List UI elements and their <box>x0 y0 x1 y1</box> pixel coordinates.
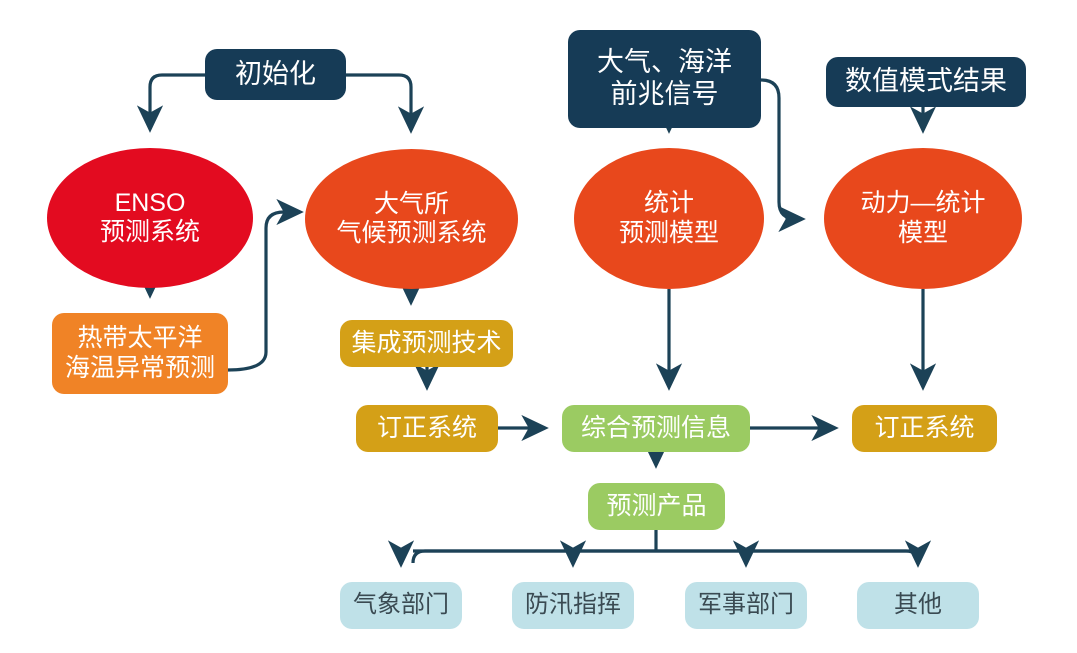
node-dynamic-statistical-model[interactable]: 动力—统计 模型 <box>824 148 1022 289</box>
node-numerical-model-result[interactable]: 数值模式结果 <box>826 57 1026 107</box>
edge-init-to-iap <box>346 75 411 130</box>
node-initialization[interactable]: 初始化 <box>205 49 346 100</box>
node-atmos-ocean-signal[interactable]: 大气、海洋 前兆信号 <box>568 30 761 128</box>
node-correction-system-left[interactable]: 订正系统 <box>356 405 498 452</box>
node-dept-other[interactable]: 其他 <box>857 582 979 629</box>
node-tropical-pacific-sst-anomaly[interactable]: 热带太平洋 海温异常预测 <box>52 313 228 394</box>
node-dept-flood-control[interactable]: 防汛指挥 <box>512 582 634 629</box>
edge-init-to-enso <box>150 75 205 129</box>
node-integrated-forecast-information[interactable]: 综合预测信息 <box>562 405 750 452</box>
node-ensemble-forecast-technique[interactable]: 集成预测技术 <box>340 320 513 367</box>
node-correction-system-right[interactable]: 订正系统 <box>852 405 997 452</box>
node-dept-meteorology[interactable]: 气象部门 <box>340 582 462 629</box>
edge-product-bus-rail <box>413 551 918 563</box>
node-iap-climate-prediction-system[interactable]: 大气所 气候预测系统 <box>305 149 518 289</box>
edge-signal-to-dynstat <box>761 80 802 219</box>
node-dept-military[interactable]: 军事部门 <box>685 582 807 629</box>
node-enso-prediction-system[interactable]: ENSO 预测系统 <box>47 148 253 288</box>
node-statistical-prediction-model[interactable]: 统计 预测模型 <box>574 148 764 289</box>
flowchart-canvas: 初始化 大气、海洋 前兆信号 数值模式结果 ENSO 预测系统 大气所 气候预测… <box>0 0 1077 653</box>
node-forecast-product[interactable]: 预测产品 <box>588 483 725 530</box>
